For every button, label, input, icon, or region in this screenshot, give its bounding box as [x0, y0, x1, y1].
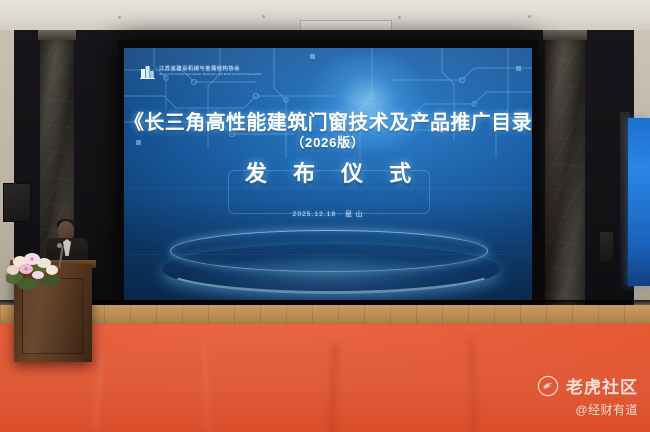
screen-scanline: [124, 254, 532, 255]
slide-event-title: 发 布 仪 式: [124, 156, 532, 188]
pillar-cap-left: [38, 30, 76, 40]
wall-speaker-left: [3, 183, 31, 222]
slide-title: 《长三角高性能建筑门窗技术及产品推广目录》: [124, 106, 532, 135]
ceiling-fixture-icon: [398, 16, 401, 19]
association-logo-text: 江苏省建设机械与金属结构协会 Jiangsu Provincial Constr…: [159, 66, 261, 76]
led-screen: 江苏省建设机械与金属结构协会 Jiangsu Provincial Constr…: [124, 48, 532, 300]
association-building-logo-icon: [140, 63, 155, 79]
pillar-cap-right: [543, 30, 587, 40]
ceiling-fixture-icon: [262, 15, 265, 18]
wall-speaker-right: [600, 232, 613, 262]
slide-subtitle: （2026版）: [124, 132, 532, 151]
podium-flower-arrangement: [6, 248, 68, 292]
ceiling-fixture-icon: [528, 15, 531, 18]
association-logo: 江苏省建设机械与金属结构协会 Jiangsu Provincial Constr…: [140, 63, 261, 79]
side-display-panel: [628, 118, 650, 286]
screen-scanline: [124, 188, 532, 189]
conference-photo-scene: 江苏省建设机械与金属结构协会 Jiangsu Provincial Constr…: [0, 0, 650, 432]
ceiling-fixture-icon: [118, 16, 121, 19]
stage-ring-arc: [162, 244, 500, 294]
slide-date-location: 2025.12.18 · 昆 山: [124, 208, 532, 218]
screen-scanline: [124, 114, 532, 115]
